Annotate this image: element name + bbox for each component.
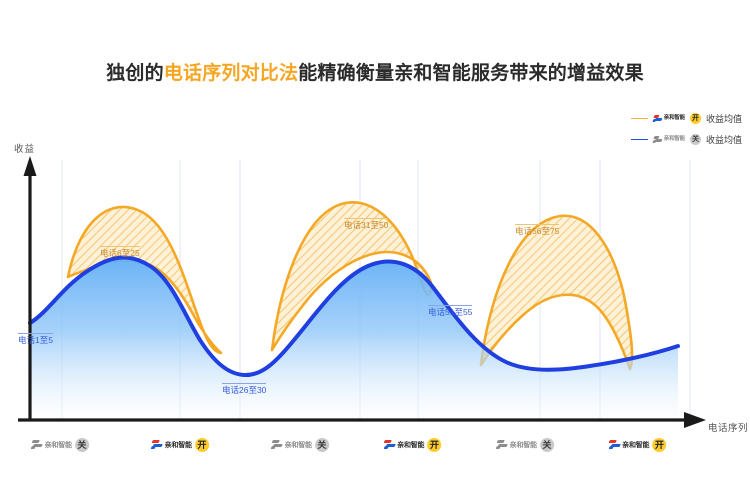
annotation-orange-31-50: 电话31至50 (344, 218, 388, 230)
x-tick-brand-2: 亲和智能 (165, 442, 192, 449)
x-tick-marker-2[interactable]: 亲和智能 开 (151, 438, 209, 452)
title-prefix: 独创的 (106, 63, 164, 84)
gain-area-56-75 (481, 216, 632, 369)
title-suffix: 能精确衡量亲和智能服务带来的增益效果 (298, 63, 644, 84)
brand-logo-icon: 亲和智能 (271, 440, 312, 451)
brand-mark-icon (496, 440, 508, 451)
x-tick-brand-3: 亲和智能 (285, 442, 312, 449)
x-tick-marker-5[interactable]: 亲和智能 关 (496, 438, 554, 452)
x-tick-brand-1: 亲和智能 (45, 442, 72, 449)
brand-mark-icon (31, 440, 43, 451)
annotation-blue-51-55: 电话51至55 (428, 305, 472, 317)
brand-mark-icon (271, 440, 283, 451)
x-axis-tick-markers: 亲和智能 关 亲和智能 开 亲和智能 关 亲和智能 开 亲和智能 关 (0, 438, 750, 462)
brand-logo-icon: 亲和智能 (151, 440, 192, 451)
x-tick-brand-4: 亲和智能 (397, 442, 424, 449)
x-tick-brand-5: 亲和智能 (510, 442, 537, 449)
state-badge-off: 关 (75, 438, 89, 452)
x-tick-brand-6: 亲和智能 (622, 442, 649, 449)
title-highlight: 电话序列对比法 (164, 63, 298, 84)
x-tick-marker-1[interactable]: 亲和智能 关 (31, 438, 89, 452)
x-tick-marker-4[interactable]: 亲和智能 开 (384, 438, 442, 452)
x-tick-marker-3[interactable]: 亲和智能 关 (271, 438, 329, 452)
brand-mark-icon (151, 440, 163, 451)
x-tick-marker-6[interactable]: 亲和智能 开 (609, 438, 667, 452)
chart-svg (0, 100, 750, 440)
state-badge-off: 关 (315, 438, 329, 452)
brand-logo-icon: 亲和智能 (609, 440, 650, 451)
state-badge-off: 关 (540, 438, 554, 452)
state-badge-on: 开 (195, 438, 209, 452)
brand-logo-icon: 亲和智能 (384, 440, 425, 451)
annotation-blue-1-5: 电话1至5 (18, 333, 53, 345)
chart-plot-area (0, 100, 750, 440)
annotation-orange-6-25: 电话6至25 (100, 246, 140, 258)
annotation-blue-26-30: 电话26至30 (222, 383, 266, 395)
brand-mark-icon (384, 440, 396, 451)
annotation-orange-56-75: 电话56至75 (515, 224, 559, 236)
brand-logo-icon: 亲和智能 (496, 440, 537, 451)
state-badge-on: 开 (427, 438, 441, 452)
state-badge-on: 开 (652, 438, 666, 452)
page-title: 独创的电话序列对比法能精确衡量亲和智能服务带来的增益效果 (0, 58, 750, 85)
brand-mark-icon (609, 440, 621, 451)
brand-logo-icon: 亲和智能 (31, 440, 72, 451)
